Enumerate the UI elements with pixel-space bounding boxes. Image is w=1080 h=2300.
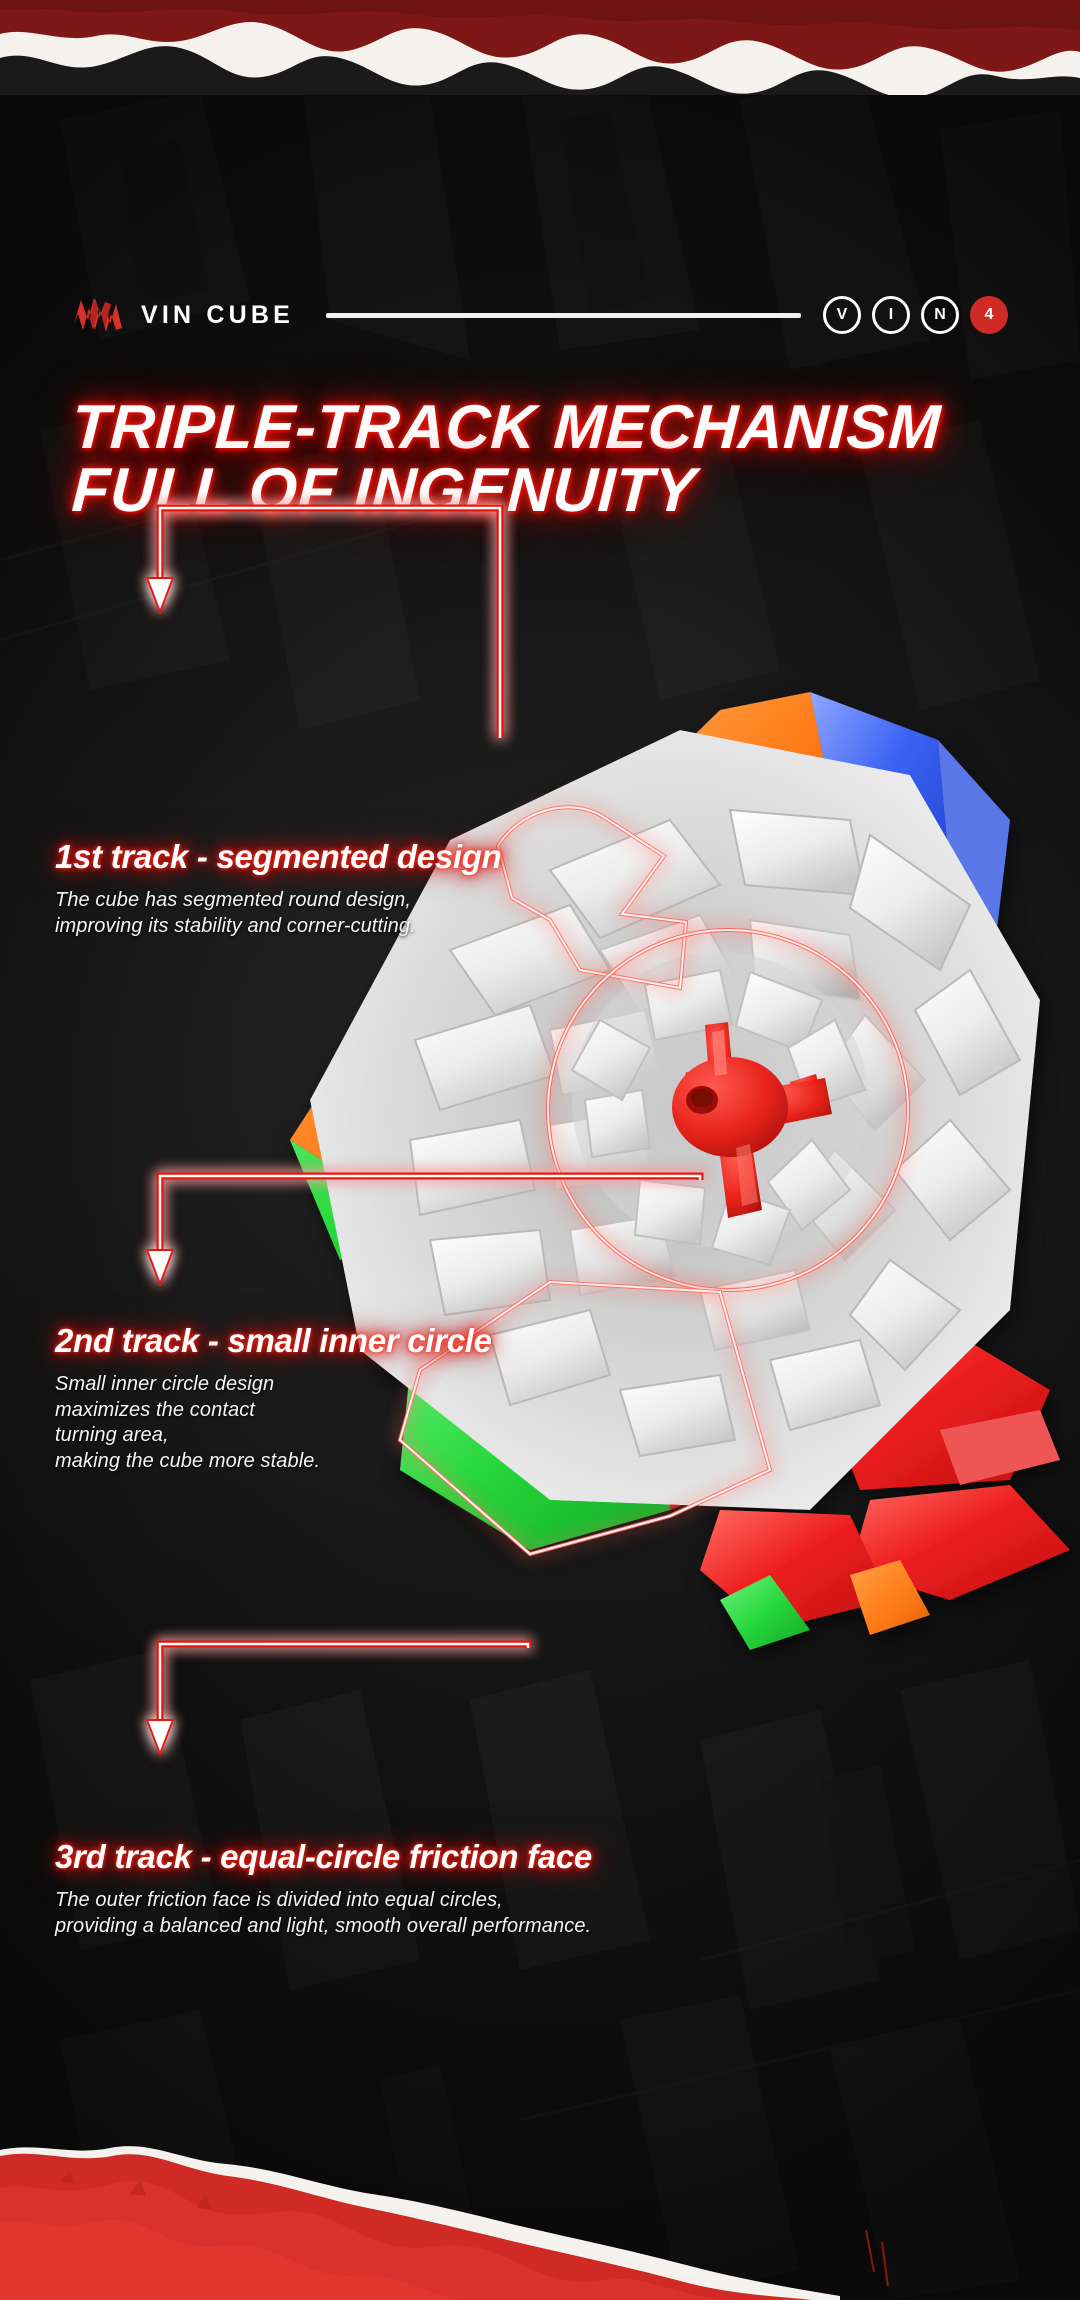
page-title-line-2: FULL OF INGENUITY [70, 459, 1023, 522]
header-divider-rule [326, 313, 801, 318]
torn-paper-bottom-edge [0, 2090, 1080, 2300]
callout-3-body: The outer friction face is divided into … [55, 1888, 592, 1939]
vin-zigzag-logo-icon [72, 294, 124, 336]
callout-1: 1st track - segmented design The cube ha… [55, 838, 501, 939]
callout-3-title: 3rd track - equal-circle friction face [55, 1838, 592, 1876]
brand-name: VIN CUBE [141, 301, 294, 330]
badge-v: V [823, 296, 861, 334]
callout-2-title: 2nd track - small inner circle [55, 1322, 492, 1360]
callout-1-title: 1st track - segmented design [55, 838, 501, 876]
torn-paper-top-edge [0, 0, 1080, 95]
version-badge-group: V I N 4 [823, 296, 1008, 334]
callout-1-body: The cube has segmented round design, imp… [55, 888, 501, 939]
page-title: TRIPLE-TRACK MECHANISM FULL OF INGENUITY [72, 396, 1022, 522]
callout-2-body: Small inner circle design maximizes the … [55, 1372, 492, 1474]
badge-n: N [921, 296, 959, 334]
badge-4: 4 [970, 296, 1008, 334]
callout-2: 2nd track - small inner circle Small inn… [55, 1322, 492, 1474]
badge-i: I [872, 296, 910, 334]
brand-header: VIN CUBE V I N 4 [72, 285, 1008, 345]
product-image-speed-cube [250, 670, 1080, 1670]
callout-3: 3rd track - equal-circle friction face T… [55, 1838, 592, 1939]
page-title-line-1: TRIPLE-TRACK MECHANISM [70, 396, 1023, 459]
